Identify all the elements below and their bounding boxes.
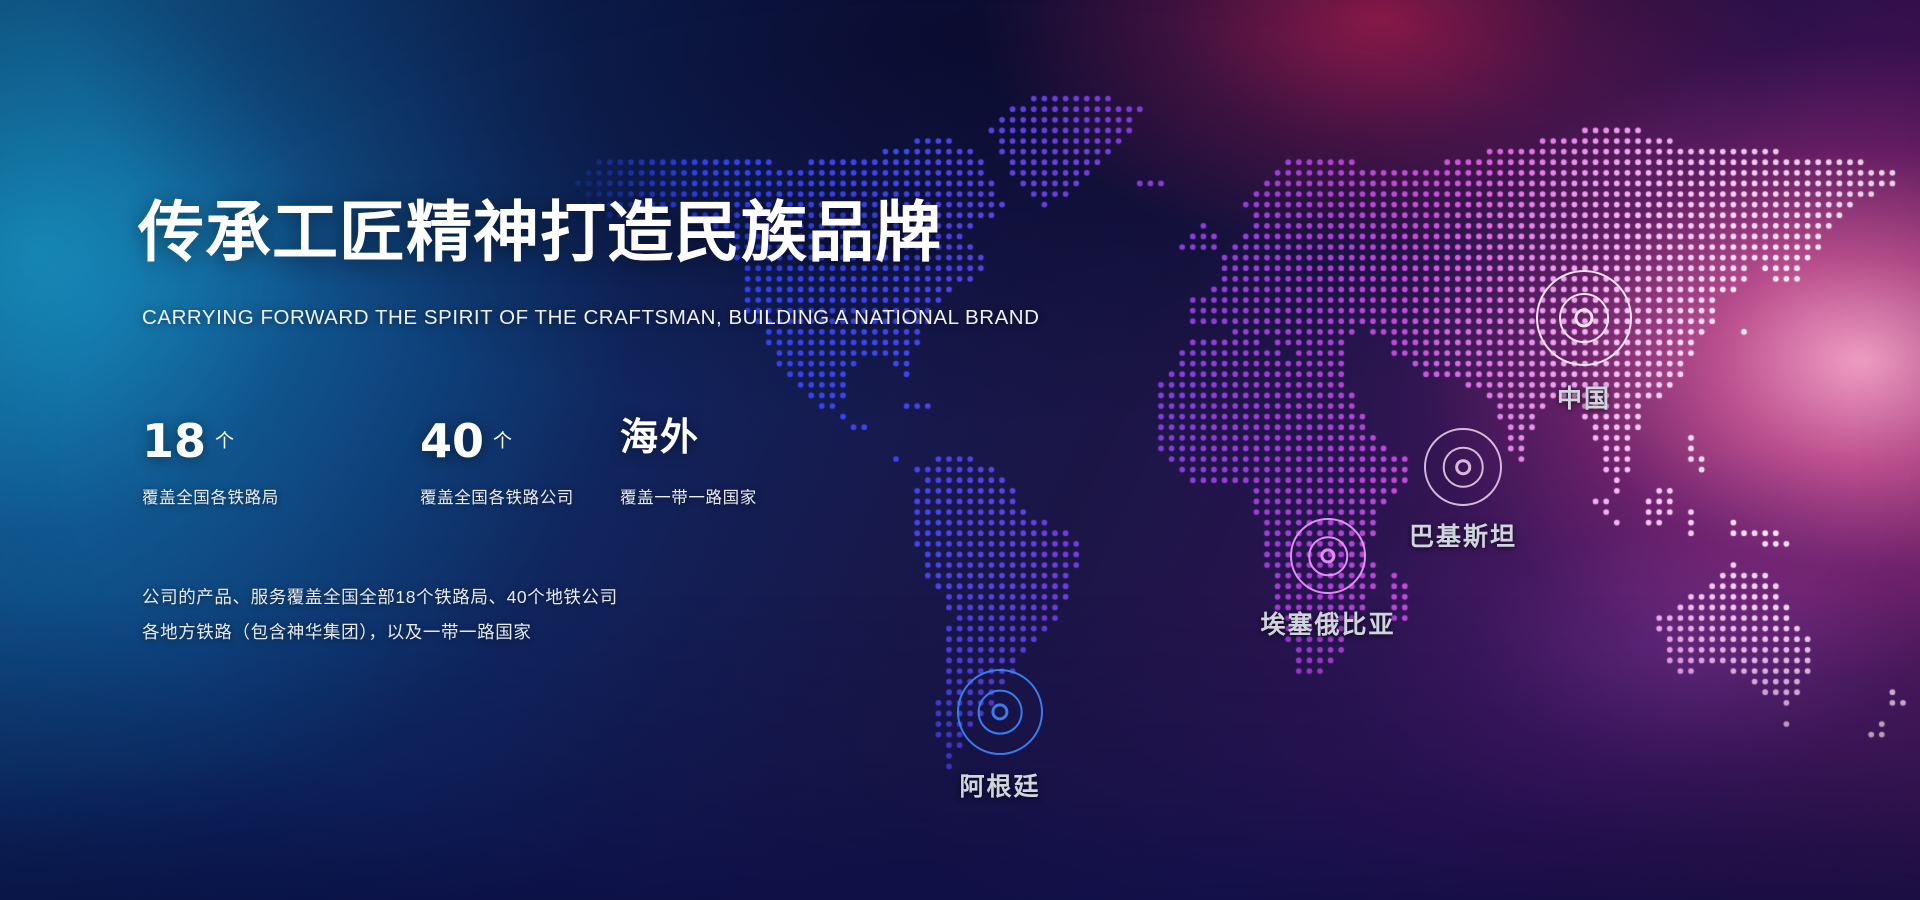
stat-item-railway-companies: 40 个 覆盖全国各铁路公司	[420, 418, 620, 508]
stat-caption: 覆盖一带一路国家	[620, 484, 850, 508]
banner-content: 传承工匠精神打造民族品牌 CARRYING FORWARD THE SPIRIT…	[138, 0, 1038, 900]
stat-caption: 覆盖全国各铁路公司	[420, 484, 620, 508]
map-marker-china[interactable]: 中国	[1536, 270, 1632, 366]
stat-value: 18	[142, 418, 206, 464]
description-line-2: 各地方铁路（包含神华集团），以及一带一路国家	[142, 615, 618, 650]
banner-hero: 中国巴基斯坦埃塞俄比亚阿根廷 传承工匠精神打造民族品牌 CARRYING FOR…	[0, 0, 1920, 900]
map-marker-pakistan[interactable]: 巴基斯坦	[1424, 428, 1502, 506]
marker-ring-core	[1455, 459, 1471, 475]
stat-caption: 覆盖全国各铁路局	[142, 484, 420, 508]
description-line-1: 公司的产品、服务覆盖全国全部18个铁路局、40个地铁公司	[142, 580, 618, 615]
stat-value: 海外	[620, 418, 700, 456]
statistics-row: 18 个 覆盖全国各铁路局 40 个 覆盖全国各铁路公司 海外 覆盖一带一路国家	[142, 418, 850, 508]
stat-unit: 个	[493, 426, 512, 453]
stat-item-overseas: 海外 覆盖一带一路国家	[620, 418, 850, 508]
map-marker-ethiopia[interactable]: 埃塞俄比亚	[1290, 518, 1366, 594]
stat-value: 40	[420, 418, 484, 464]
map-marker-label-ethiopia: 埃塞俄比亚	[1260, 605, 1395, 641]
stat-value-group: 40 个	[420, 418, 620, 474]
stat-item-railway-bureaus: 18 个 覆盖全国各铁路局	[142, 418, 420, 508]
map-marker-label-pakistan: 巴基斯坦	[1409, 517, 1517, 553]
map-marker-label-china: 中国	[1557, 379, 1611, 415]
description-paragraph: 公司的产品、服务覆盖全国全部18个铁路局、40个地铁公司 各地方铁路（包含神华集…	[142, 580, 618, 650]
page-subtitle: CARRYING FORWARD THE SPIRIT OF THE CRAFT…	[142, 306, 1040, 330]
stat-value-group: 18 个	[142, 418, 420, 474]
stat-unit: 个	[215, 426, 234, 453]
page-title: 传承工匠精神打造民族品牌	[138, 200, 942, 266]
stat-value-group: 海外	[620, 418, 850, 474]
